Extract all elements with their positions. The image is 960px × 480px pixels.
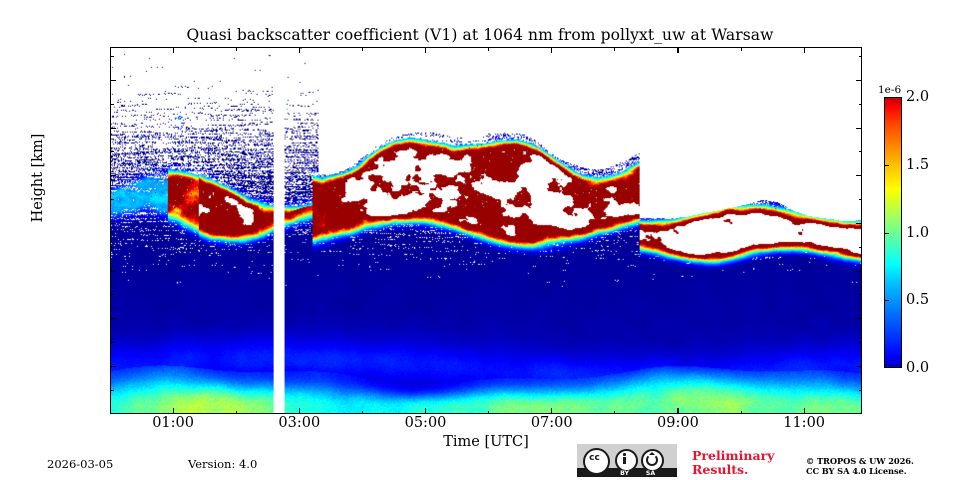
y-tick-mark-6 (110, 271, 116, 272)
x-tick-label-09:00: 09:00 (638, 415, 718, 431)
x-tick-mark-07:00 (551, 408, 552, 414)
copyright-line-2: CC BY SA 4.0 License. (806, 466, 914, 476)
y-minor-tick-7 (110, 247, 114, 248)
x-tick-mark-top-09:00 (677, 47, 678, 53)
sa-ring-icon (646, 454, 658, 466)
figure-canvas: Quasi backscatter coefficient (V1) at 10… (0, 0, 960, 480)
x-minor-tick-08:00 (614, 411, 615, 415)
preliminary-line-2: Results. (692, 463, 774, 477)
x-minor-tick-06:00 (488, 411, 489, 415)
y-tick-mark-right-2 (856, 366, 862, 367)
x-minor-tick-top-08:00 (614, 47, 615, 51)
y-minor-tick-5 (110, 294, 114, 295)
y-tick-mark-right-12 (856, 128, 862, 129)
x-tick-label-07:00: 07:00 (512, 415, 592, 431)
x-minor-tick-top-04:00 (362, 47, 363, 51)
y-minor-tick-right-3 (859, 342, 863, 343)
person-head-icon (623, 453, 626, 456)
x-tick-mark-01:00 (173, 408, 174, 414)
y-tick-mark-right-4 (856, 318, 862, 319)
cc-license-badge[interactable]: cc BY SA (577, 444, 677, 477)
y-tick-mark-2 (110, 366, 116, 367)
date-stamp: 2026-03-05 (47, 457, 113, 471)
y-minor-tick-right-5 (859, 294, 863, 295)
x-tick-mark-05:00 (425, 408, 426, 414)
x-minor-tick-top-10:00 (741, 47, 742, 51)
y-tick-mark-8 (110, 223, 116, 224)
y-tick-mark-right-10 (856, 175, 862, 176)
x-tick-mark-top-01:00 (173, 47, 174, 53)
x-tick-mark-09:00 (677, 408, 678, 414)
colorbar-tick-mark-3 (884, 165, 889, 166)
x-tick-mark-top-03:00 (299, 47, 300, 53)
colorbar-tick-mark-1 (884, 300, 889, 301)
y-minor-tick-13 (110, 104, 114, 105)
y-minor-tick-9 (110, 199, 114, 200)
backscatter-heatmap (111, 48, 861, 413)
x-tick-mark-11:00 (804, 408, 805, 414)
x-tick-label-05:00: 05:00 (386, 415, 466, 431)
cc-label: cc (583, 453, 606, 463)
y-minor-tick-right-9 (859, 199, 863, 200)
y-tick-mark-4 (110, 318, 116, 319)
x-minor-tick-04:00 (362, 411, 363, 415)
colorbar-tick-label-0: 0.0 (906, 360, 929, 376)
x-minor-tick-top-06:00 (488, 47, 489, 51)
cc-by-text: BY (615, 470, 634, 477)
x-minor-tick-top-02:00 (236, 47, 237, 51)
y-minor-tick-right-15 (859, 56, 863, 57)
x-tick-mark-top-05:00 (425, 47, 426, 53)
y-minor-tick-3 (110, 342, 114, 343)
sa-arrowhead-icon (649, 452, 655, 455)
y-tick-mark-right-8 (856, 223, 862, 224)
chart-title: Quasi backscatter coefficient (V1) at 10… (0, 26, 960, 44)
x-tick-mark-03:00 (299, 408, 300, 414)
y-minor-tick-right-1 (859, 390, 863, 391)
y-minor-tick-15 (110, 56, 114, 57)
x-tick-label-01:00: 01:00 (133, 415, 213, 431)
y-tick-mark-10 (110, 175, 116, 176)
y-tick-mark-right-6 (856, 271, 862, 272)
y-minor-tick-right-7 (859, 247, 863, 248)
heatmap-plot-area[interactable] (110, 47, 862, 414)
colorbar-tick-label-4: 2.0 (906, 89, 929, 105)
person-body-icon (623, 457, 626, 464)
cc-sa-arrow-icon (641, 449, 664, 472)
cc-sa-text: SA (641, 470, 660, 477)
copyright-line-1: © TROPOS & UW 2026. (806, 456, 914, 466)
y-tick-mark-12 (110, 128, 116, 129)
preliminary-results-notice: Preliminary Results. (692, 449, 774, 476)
version-label: Version: 4.0 (188, 457, 257, 471)
y-minor-tick-right-13 (859, 104, 863, 105)
x-tick-label-03:00: 03:00 (259, 415, 339, 431)
y-minor-tick-11 (110, 151, 114, 152)
y-axis-label: Height [km] (30, 98, 46, 258)
y-tick-mark-right-14 (856, 80, 862, 81)
colorbar-exponent: 1e-6 (878, 84, 901, 96)
copyright-notice: © TROPOS & UW 2026. CC BY SA 4.0 License… (806, 456, 914, 476)
y-minor-tick-1 (110, 390, 114, 391)
colorbar-tick-label-1: 0.5 (906, 292, 929, 308)
x-tick-mark-top-11:00 (804, 47, 805, 53)
x-minor-tick-02:00 (236, 411, 237, 415)
colorbar-tick-label-3: 1.5 (906, 157, 929, 173)
x-tick-label-11:00: 11:00 (764, 415, 844, 431)
colorbar-tick-label-2: 1.0 (906, 225, 929, 241)
x-minor-tick-10:00 (741, 411, 742, 415)
colorbar-tick-mark-2 (884, 233, 889, 234)
preliminary-line-1: Preliminary (692, 449, 774, 463)
cc-by-person-icon (615, 449, 638, 472)
y-minor-tick-right-11 (859, 151, 863, 152)
x-tick-mark-top-07:00 (551, 47, 552, 53)
y-tick-mark-14 (110, 80, 116, 81)
